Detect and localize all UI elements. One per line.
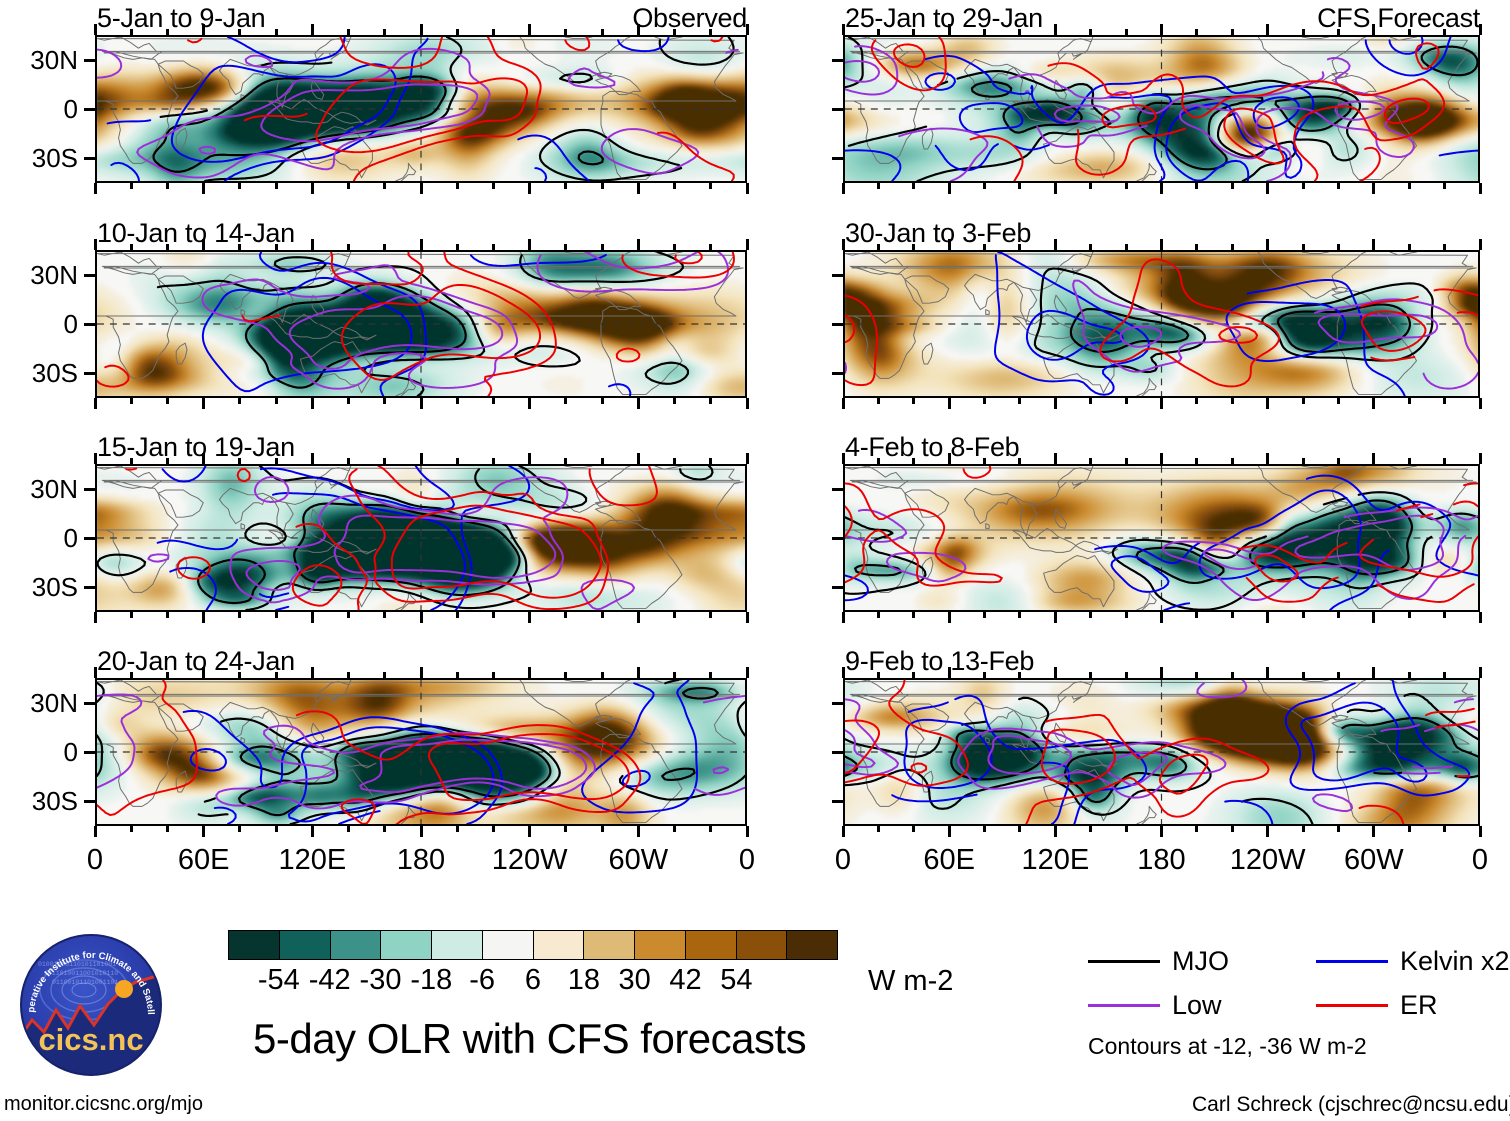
x-tick	[1302, 183, 1305, 189]
x-tick	[1089, 29, 1092, 35]
x-tick	[912, 183, 915, 189]
x-tick	[311, 398, 314, 409]
x-tick	[202, 183, 205, 194]
x-tick	[275, 612, 278, 618]
x-tick	[1195, 458, 1198, 464]
x-tick	[1231, 458, 1234, 464]
x-tick	[1408, 398, 1411, 404]
x-tick	[709, 183, 712, 189]
y-tick	[832, 59, 843, 62]
x-tick	[1372, 453, 1375, 464]
panel-title-fcst-1: 25-Jan to 29-Jan	[845, 5, 1043, 32]
x-tick	[311, 24, 314, 35]
x-tick	[1125, 826, 1128, 832]
x-tick	[1479, 398, 1482, 409]
x-tick	[983, 672, 986, 678]
y-tick	[84, 800, 95, 803]
map-fcst-3	[843, 464, 1480, 612]
x-tick	[275, 244, 278, 250]
x-tick	[383, 826, 386, 832]
x-tick	[166, 672, 169, 678]
x-tick	[1372, 667, 1375, 678]
x-tick	[130, 29, 133, 35]
y-ticklabel-0: 0	[0, 96, 78, 122]
x-ticklabel: 60E	[923, 846, 975, 875]
x-tick	[1018, 458, 1021, 464]
x-tick	[1125, 458, 1128, 464]
legend-label-mjo: MJO	[1172, 948, 1229, 975]
y-tick	[832, 800, 843, 803]
panel-fcst-4: 9-Feb to 13-Feb	[841, 648, 1482, 830]
x-tick	[673, 672, 676, 678]
x-ticklabel: 60W	[609, 846, 669, 875]
x-ticklabel: 0	[739, 846, 755, 875]
x-tick	[202, 239, 205, 250]
x-tick	[709, 672, 712, 678]
y-tick	[84, 586, 95, 589]
x-tick	[1479, 453, 1482, 464]
legend-item-low: Low	[1088, 992, 1222, 1019]
map-fcst-4	[843, 678, 1480, 826]
colorbar-segment	[381, 931, 432, 959]
x-tick	[1443, 29, 1446, 35]
contour-note: Contours at -12, -36 W m-2	[1088, 1035, 1367, 1058]
cics-nc-logo-graphic: 01001100110101101001 1011010011001010110…	[18, 932, 164, 1078]
x-tick	[912, 612, 915, 618]
x-tick	[637, 612, 640, 623]
author-credit: Carl Schreck (cjschrec@ncsu.edu)	[1192, 1094, 1510, 1115]
x-tick	[130, 458, 133, 464]
x-tick	[746, 24, 749, 35]
x-tick	[601, 826, 604, 832]
x-tick	[842, 239, 845, 250]
x-tick	[383, 398, 386, 404]
x-tick	[456, 29, 459, 35]
x-tick	[1408, 612, 1411, 618]
panel-title-obs-2: 10-Jan to 14-Jan	[97, 220, 295, 247]
x-tick	[1195, 672, 1198, 678]
panel-fcst-1: 25-Jan to 29-JanCFS Forecast	[841, 5, 1482, 187]
y-tick	[84, 157, 95, 160]
x-tick	[1231, 826, 1234, 832]
x-tick	[94, 183, 97, 194]
x-tick	[456, 398, 459, 404]
y-tick	[84, 108, 95, 111]
x-tick	[238, 458, 241, 464]
y-ticklabel-0: 0	[0, 311, 78, 337]
x-tick	[1018, 398, 1021, 404]
x-tick	[238, 29, 241, 35]
x-tick	[492, 612, 495, 618]
x-tick	[311, 183, 314, 194]
x-tick	[564, 458, 567, 464]
x-tick	[1266, 667, 1269, 678]
x-tick	[1160, 612, 1163, 623]
x-tick	[673, 612, 676, 618]
y-ticklabel-0: 0	[0, 739, 78, 765]
x-tick	[1302, 612, 1305, 618]
colorbar-segment	[737, 931, 788, 959]
x-tick	[492, 398, 495, 404]
x-tick	[456, 826, 459, 832]
x-tick	[166, 29, 169, 35]
x-tick	[709, 244, 712, 250]
x-tick	[528, 826, 531, 837]
contour-legend: MJO Kelvin x2 Low ER	[1088, 948, 1508, 1018]
x-tick	[311, 667, 314, 678]
x-tick	[1125, 29, 1128, 35]
x-tick	[528, 183, 531, 194]
x-tick	[983, 398, 986, 404]
x-tick	[528, 239, 531, 250]
y-ticklabel-30n: 30N	[0, 476, 78, 502]
panel-fcst-3: 4-Feb to 8-Feb	[841, 434, 1482, 616]
x-tick	[1372, 183, 1375, 194]
x-tick	[948, 612, 951, 623]
y-tick	[832, 274, 843, 277]
x-tick	[202, 24, 205, 35]
x-tick	[1089, 458, 1092, 464]
x-tick	[1408, 458, 1411, 464]
colorbar-segment	[534, 931, 585, 959]
y-ticklabel-30s: 30S	[0, 788, 78, 814]
x-tick	[166, 612, 169, 618]
x-tick	[637, 667, 640, 678]
x-tick	[1054, 239, 1057, 250]
x-tick	[1018, 29, 1021, 35]
x-tick	[202, 612, 205, 623]
x-tick	[275, 672, 278, 678]
x-tick	[912, 244, 915, 250]
panel-title-fcst-2: 30-Jan to 3-Feb	[845, 220, 1031, 247]
y-tick	[832, 586, 843, 589]
x-tick	[601, 183, 604, 189]
colorbar-segment	[584, 931, 635, 959]
colorbar-ticklabel: 42	[669, 966, 701, 995]
x-tick	[166, 398, 169, 404]
colorbar-ticklabel: -6	[469, 966, 495, 995]
legend-swatch-kelvin	[1316, 960, 1388, 963]
x-tick	[877, 826, 880, 832]
x-tick	[564, 398, 567, 404]
x-tick	[1018, 183, 1021, 189]
colorbar-ticklabel: 30	[619, 966, 651, 995]
x-tick	[1125, 183, 1128, 189]
x-tick	[1231, 183, 1234, 189]
x-tick	[420, 826, 423, 837]
column-header-forecast: CFS Forecast	[1317, 5, 1480, 32]
x-tick	[528, 398, 531, 409]
x-tick	[1160, 398, 1163, 409]
x-tick	[238, 244, 241, 250]
x-tick	[842, 826, 845, 837]
colorbar-ticklabel: -30	[360, 966, 402, 995]
colorbar-ticklabel: 6	[525, 966, 541, 995]
x-tick	[1089, 612, 1092, 618]
x-tick	[1302, 826, 1305, 832]
x-tick	[564, 183, 567, 189]
x-tick	[130, 398, 133, 404]
legend-swatch-mjo	[1088, 960, 1160, 963]
x-tick	[1054, 183, 1057, 194]
legend-item-mjo: MJO	[1088, 948, 1229, 975]
x-tick	[746, 453, 749, 464]
x-tick	[1125, 672, 1128, 678]
x-tick	[1054, 826, 1057, 837]
x-tick	[1443, 458, 1446, 464]
legend-label-er: ER	[1400, 992, 1438, 1019]
x-tick	[383, 183, 386, 189]
x-tick	[1089, 183, 1092, 189]
y-ticklabel-30n: 30N	[0, 47, 78, 73]
x-tick	[1231, 612, 1234, 618]
x-tick	[94, 612, 97, 623]
x-tick	[456, 672, 459, 678]
x-ticklabel: 120W	[1230, 846, 1306, 875]
x-tick	[1195, 826, 1198, 832]
y-tick	[832, 323, 843, 326]
colorbar-ticklabel: -18	[410, 966, 452, 995]
x-tick	[1054, 612, 1057, 623]
x-tick	[564, 612, 567, 618]
x-tick	[877, 29, 880, 35]
x-tick	[601, 458, 604, 464]
x-ticklabel: 60W	[1344, 846, 1404, 875]
x-tick	[238, 183, 241, 189]
x-tick	[1372, 398, 1375, 409]
x-tick	[420, 398, 423, 409]
legend-swatch-er	[1316, 1004, 1388, 1007]
map-fcst-1	[843, 35, 1480, 183]
x-tick	[1266, 239, 1269, 250]
x-tick	[673, 244, 676, 250]
x-tick	[1408, 244, 1411, 250]
x-tick	[1443, 612, 1446, 618]
x-tick	[94, 667, 97, 678]
x-tick	[1337, 826, 1340, 832]
x-tick	[492, 244, 495, 250]
x-tick	[347, 398, 350, 404]
panel-obs-4: 20-Jan to 24-Jan30N030S	[93, 648, 749, 830]
x-tick	[1266, 24, 1269, 35]
x-tick	[1266, 612, 1269, 623]
x-tick	[1443, 826, 1446, 832]
panel-obs-3: 15-Jan to 19-Jan30N030S	[93, 434, 749, 616]
x-tick	[1018, 826, 1021, 832]
x-tick	[746, 667, 749, 678]
x-tick	[420, 453, 423, 464]
x-tick	[1054, 667, 1057, 678]
colorbar-segment	[280, 931, 331, 959]
x-tick	[94, 24, 97, 35]
x-tick	[311, 239, 314, 250]
x-tick	[202, 667, 205, 678]
x-tick	[1160, 453, 1163, 464]
x-ticklabel: 60E	[178, 846, 230, 875]
panel-title-obs-4: 20-Jan to 24-Jan	[97, 648, 295, 675]
logo-wordmark: cics.nc	[38, 1022, 143, 1057]
x-tick	[709, 612, 712, 618]
x-tick	[601, 398, 604, 404]
x-tick	[709, 458, 712, 464]
panel-title-fcst-4: 9-Feb to 13-Feb	[845, 648, 1034, 675]
colorbar-units-label: W m-2	[868, 967, 953, 996]
x-tick	[1195, 612, 1198, 618]
x-tick	[94, 398, 97, 409]
y-ticklabel-30n: 30N	[0, 690, 78, 716]
x-tick	[601, 672, 604, 678]
x-tick	[948, 667, 951, 678]
legend-item-kelvin: Kelvin x2	[1316, 948, 1510, 975]
x-tick	[912, 29, 915, 35]
colorbar-segment	[686, 931, 737, 959]
x-tick	[1443, 183, 1446, 189]
x-tick	[166, 244, 169, 250]
x-tick	[842, 24, 845, 35]
x-tick	[238, 612, 241, 618]
x-tick	[166, 183, 169, 189]
x-tick	[383, 458, 386, 464]
x-tick	[1479, 24, 1482, 35]
x-tick	[1479, 826, 1482, 837]
x-tick	[746, 239, 749, 250]
x-tick	[564, 826, 567, 832]
x-tick	[1408, 183, 1411, 189]
map-fcst-2	[843, 250, 1480, 398]
column-header-observed: Observed	[632, 5, 747, 32]
x-tick	[912, 398, 915, 404]
legend-label-low: Low	[1172, 992, 1222, 1019]
x-tick	[983, 612, 986, 618]
x-tick	[420, 183, 423, 194]
x-tick	[1443, 672, 1446, 678]
x-tick	[709, 826, 712, 832]
legend-label-kelvin: Kelvin x2	[1400, 948, 1510, 975]
colorbar-segment	[635, 931, 686, 959]
x-tick	[420, 612, 423, 623]
x-tick	[673, 826, 676, 832]
x-tick	[1160, 239, 1163, 250]
x-tick	[746, 612, 749, 623]
x-tick	[1195, 183, 1198, 189]
x-tick	[166, 826, 169, 832]
x-tick	[383, 672, 386, 678]
x-tick	[912, 458, 915, 464]
main-title: 5-day OLR with CFS forecasts	[253, 1018, 806, 1060]
x-tick	[456, 458, 459, 464]
x-tick	[347, 672, 350, 678]
x-tick	[1408, 29, 1411, 35]
map-obs-3	[95, 464, 747, 612]
x-tick	[1160, 667, 1163, 678]
y-ticklabel-0: 0	[0, 525, 78, 551]
x-tick	[528, 453, 531, 464]
x-tick	[130, 183, 133, 189]
x-tick	[637, 826, 640, 837]
x-tick	[528, 24, 531, 35]
x-tick	[1266, 826, 1269, 837]
x-tick	[94, 826, 97, 837]
x-tick	[983, 183, 986, 189]
x-tick	[1231, 29, 1234, 35]
x-ticklabel: 0	[835, 846, 851, 875]
x-tick	[383, 244, 386, 250]
x-tick	[1372, 24, 1375, 35]
x-tick	[912, 672, 915, 678]
x-tick	[1337, 398, 1340, 404]
x-tick	[673, 398, 676, 404]
y-tick	[84, 488, 95, 491]
x-tick	[673, 183, 676, 189]
y-ticklabel-30s: 30S	[0, 145, 78, 171]
x-tick	[877, 183, 880, 189]
x-tick	[202, 826, 205, 837]
x-tick	[1195, 244, 1198, 250]
x-tick	[948, 398, 951, 409]
x-tick	[492, 826, 495, 832]
x-tick	[1160, 826, 1163, 837]
x-tick	[1231, 672, 1234, 678]
x-tick	[1337, 612, 1340, 618]
x-tick	[1337, 458, 1340, 464]
y-ticklabel-30s: 30S	[0, 574, 78, 600]
x-tick	[130, 612, 133, 618]
x-tick	[564, 29, 567, 35]
x-tick	[420, 667, 423, 678]
y-tick	[832, 702, 843, 705]
map-obs-1	[95, 35, 747, 183]
x-tick	[1231, 244, 1234, 250]
x-tick	[1372, 612, 1375, 623]
y-tick	[84, 323, 95, 326]
x-tick	[383, 29, 386, 35]
x-tick	[202, 453, 205, 464]
panel-fcst-2: 30-Jan to 3-Feb	[841, 220, 1482, 402]
panel-title-obs-1: 5-Jan to 9-Jan	[97, 5, 265, 32]
x-tick	[842, 453, 845, 464]
x-ticklabel: 120E	[1021, 846, 1089, 875]
x-tick	[347, 612, 350, 618]
x-tick	[1408, 672, 1411, 678]
x-tick	[746, 183, 749, 194]
y-ticklabel-30n: 30N	[0, 262, 78, 288]
x-tick	[238, 672, 241, 678]
legend-swatch-low	[1088, 1004, 1160, 1007]
x-tick	[709, 398, 712, 404]
x-tick	[842, 612, 845, 623]
x-tick	[130, 826, 133, 832]
x-tick	[983, 29, 986, 35]
y-tick	[832, 157, 843, 160]
x-tick	[1302, 29, 1305, 35]
x-tick	[166, 458, 169, 464]
x-ticklabel: 120W	[492, 846, 568, 875]
panel-title-obs-3: 15-Jan to 19-Jan	[97, 434, 295, 461]
x-tick	[94, 453, 97, 464]
x-tick	[564, 672, 567, 678]
x-tick	[1337, 244, 1340, 250]
x-tick	[347, 826, 350, 832]
x-tick	[1266, 398, 1269, 409]
x-tick	[492, 29, 495, 35]
colorbar-segment	[432, 931, 483, 959]
x-tick	[1443, 244, 1446, 250]
x-tick	[275, 826, 278, 832]
x-tick	[948, 183, 951, 194]
x-tick	[1160, 24, 1163, 35]
x-tick	[347, 244, 350, 250]
x-tick	[130, 244, 133, 250]
